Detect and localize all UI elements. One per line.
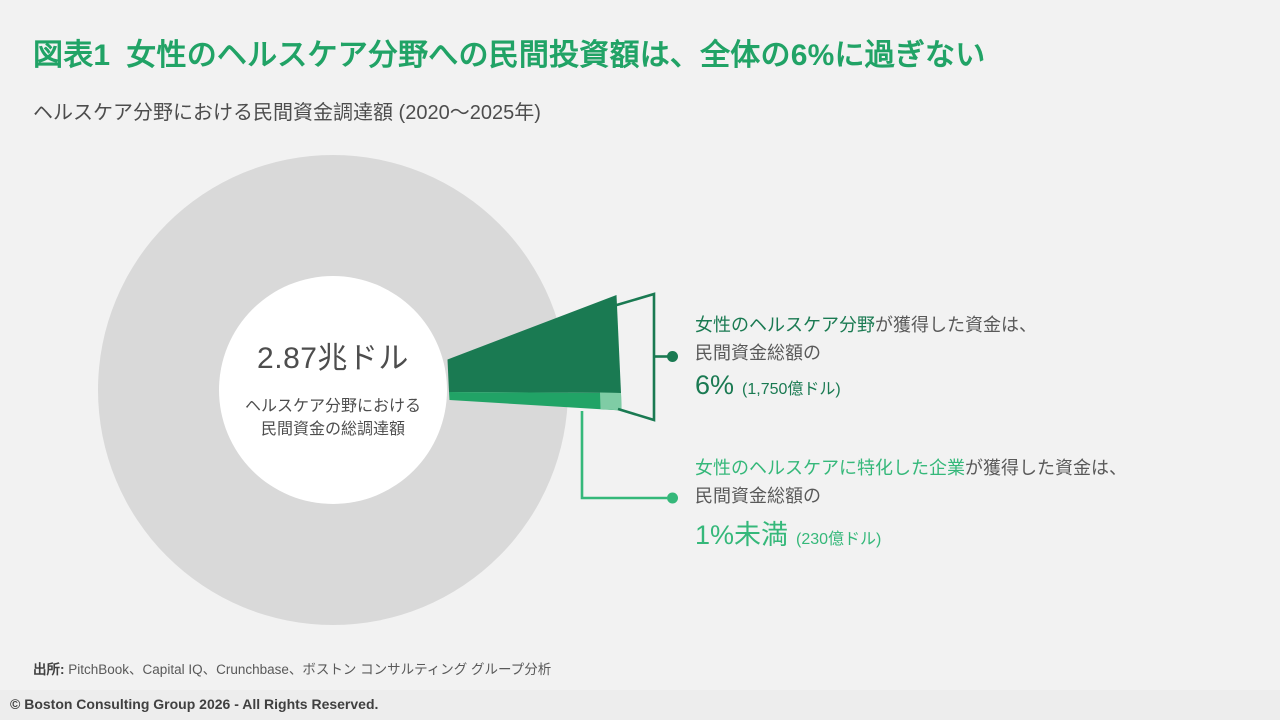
callout-1-figure-sub: (1,750億ドル) xyxy=(742,381,841,398)
source-label: 出所: xyxy=(33,662,65,677)
leader-dot-callout-2 xyxy=(667,493,678,504)
callout-2-rest: が獲得した資金は、 xyxy=(965,458,1127,478)
callout-1-line-1: 女性のヘルスケア分野が獲得した資金は、 xyxy=(695,312,1037,338)
donut-chart-svg xyxy=(0,0,1280,720)
callout-1-line-2: 民間資金総額の xyxy=(695,340,1037,366)
donut-center-value: 2.87兆ドル xyxy=(193,333,473,377)
callout-2-highlight: 女性のヘルスケアに特化した企業 xyxy=(695,458,965,478)
donut-chart: 2.87兆ドル ヘルスケア分野における 民間資金の総調達額 女性のヘルスケア分野… xyxy=(0,0,1280,720)
donut-center-caption-line-1: ヘルスケア分野における xyxy=(193,395,473,418)
callout-1-figure: 6% xyxy=(695,370,734,400)
donut-center-caption: ヘルスケア分野における 民間資金の総調達額 xyxy=(193,395,473,441)
donut-center-caption-line-2: 民間資金の総調達額 xyxy=(193,418,473,441)
callout-1-rest: が獲得した資金は、 xyxy=(875,315,1037,335)
source-note: 出所: PitchBook、Capital IQ、Crunchbase、ボストン… xyxy=(33,658,551,678)
callout-2-figure-sub: (230億ドル) xyxy=(796,531,881,548)
callout-2-line-1: 女性のヘルスケアに特化した企業が獲得した資金は、 xyxy=(695,455,1127,481)
source-text: PitchBook、Capital IQ、Crunchbase、ボストン コンサ… xyxy=(68,662,551,677)
copyright-text: © Boston Consulting Group 2026 - All Rig… xyxy=(10,696,378,712)
leader-line-callout-2 xyxy=(582,411,667,498)
leader-dot-callout-1 xyxy=(667,351,678,362)
donut-center-hole xyxy=(219,276,447,504)
callout-1-figure-row: 6%(1,750億ドル) xyxy=(695,370,1037,401)
callout-womens-health-specialized: 女性のヘルスケアに特化した企業が獲得した資金は、 民間資金総額の 1%未満(23… xyxy=(695,455,1127,552)
callout-womens-health: 女性のヘルスケア分野が獲得した資金は、 民間資金総額の 6%(1,750億ドル) xyxy=(695,312,1037,401)
donut-segment-tip-highlight xyxy=(600,393,622,411)
callout-2-figure: 1%未満 xyxy=(695,520,788,550)
callout-1-highlight: 女性のヘルスケア分野 xyxy=(695,315,875,335)
callout-2-line-2: 民間資金総額の xyxy=(695,483,1127,509)
callout-2-figure-row: 1%未満(230億ドル) xyxy=(695,513,1127,552)
